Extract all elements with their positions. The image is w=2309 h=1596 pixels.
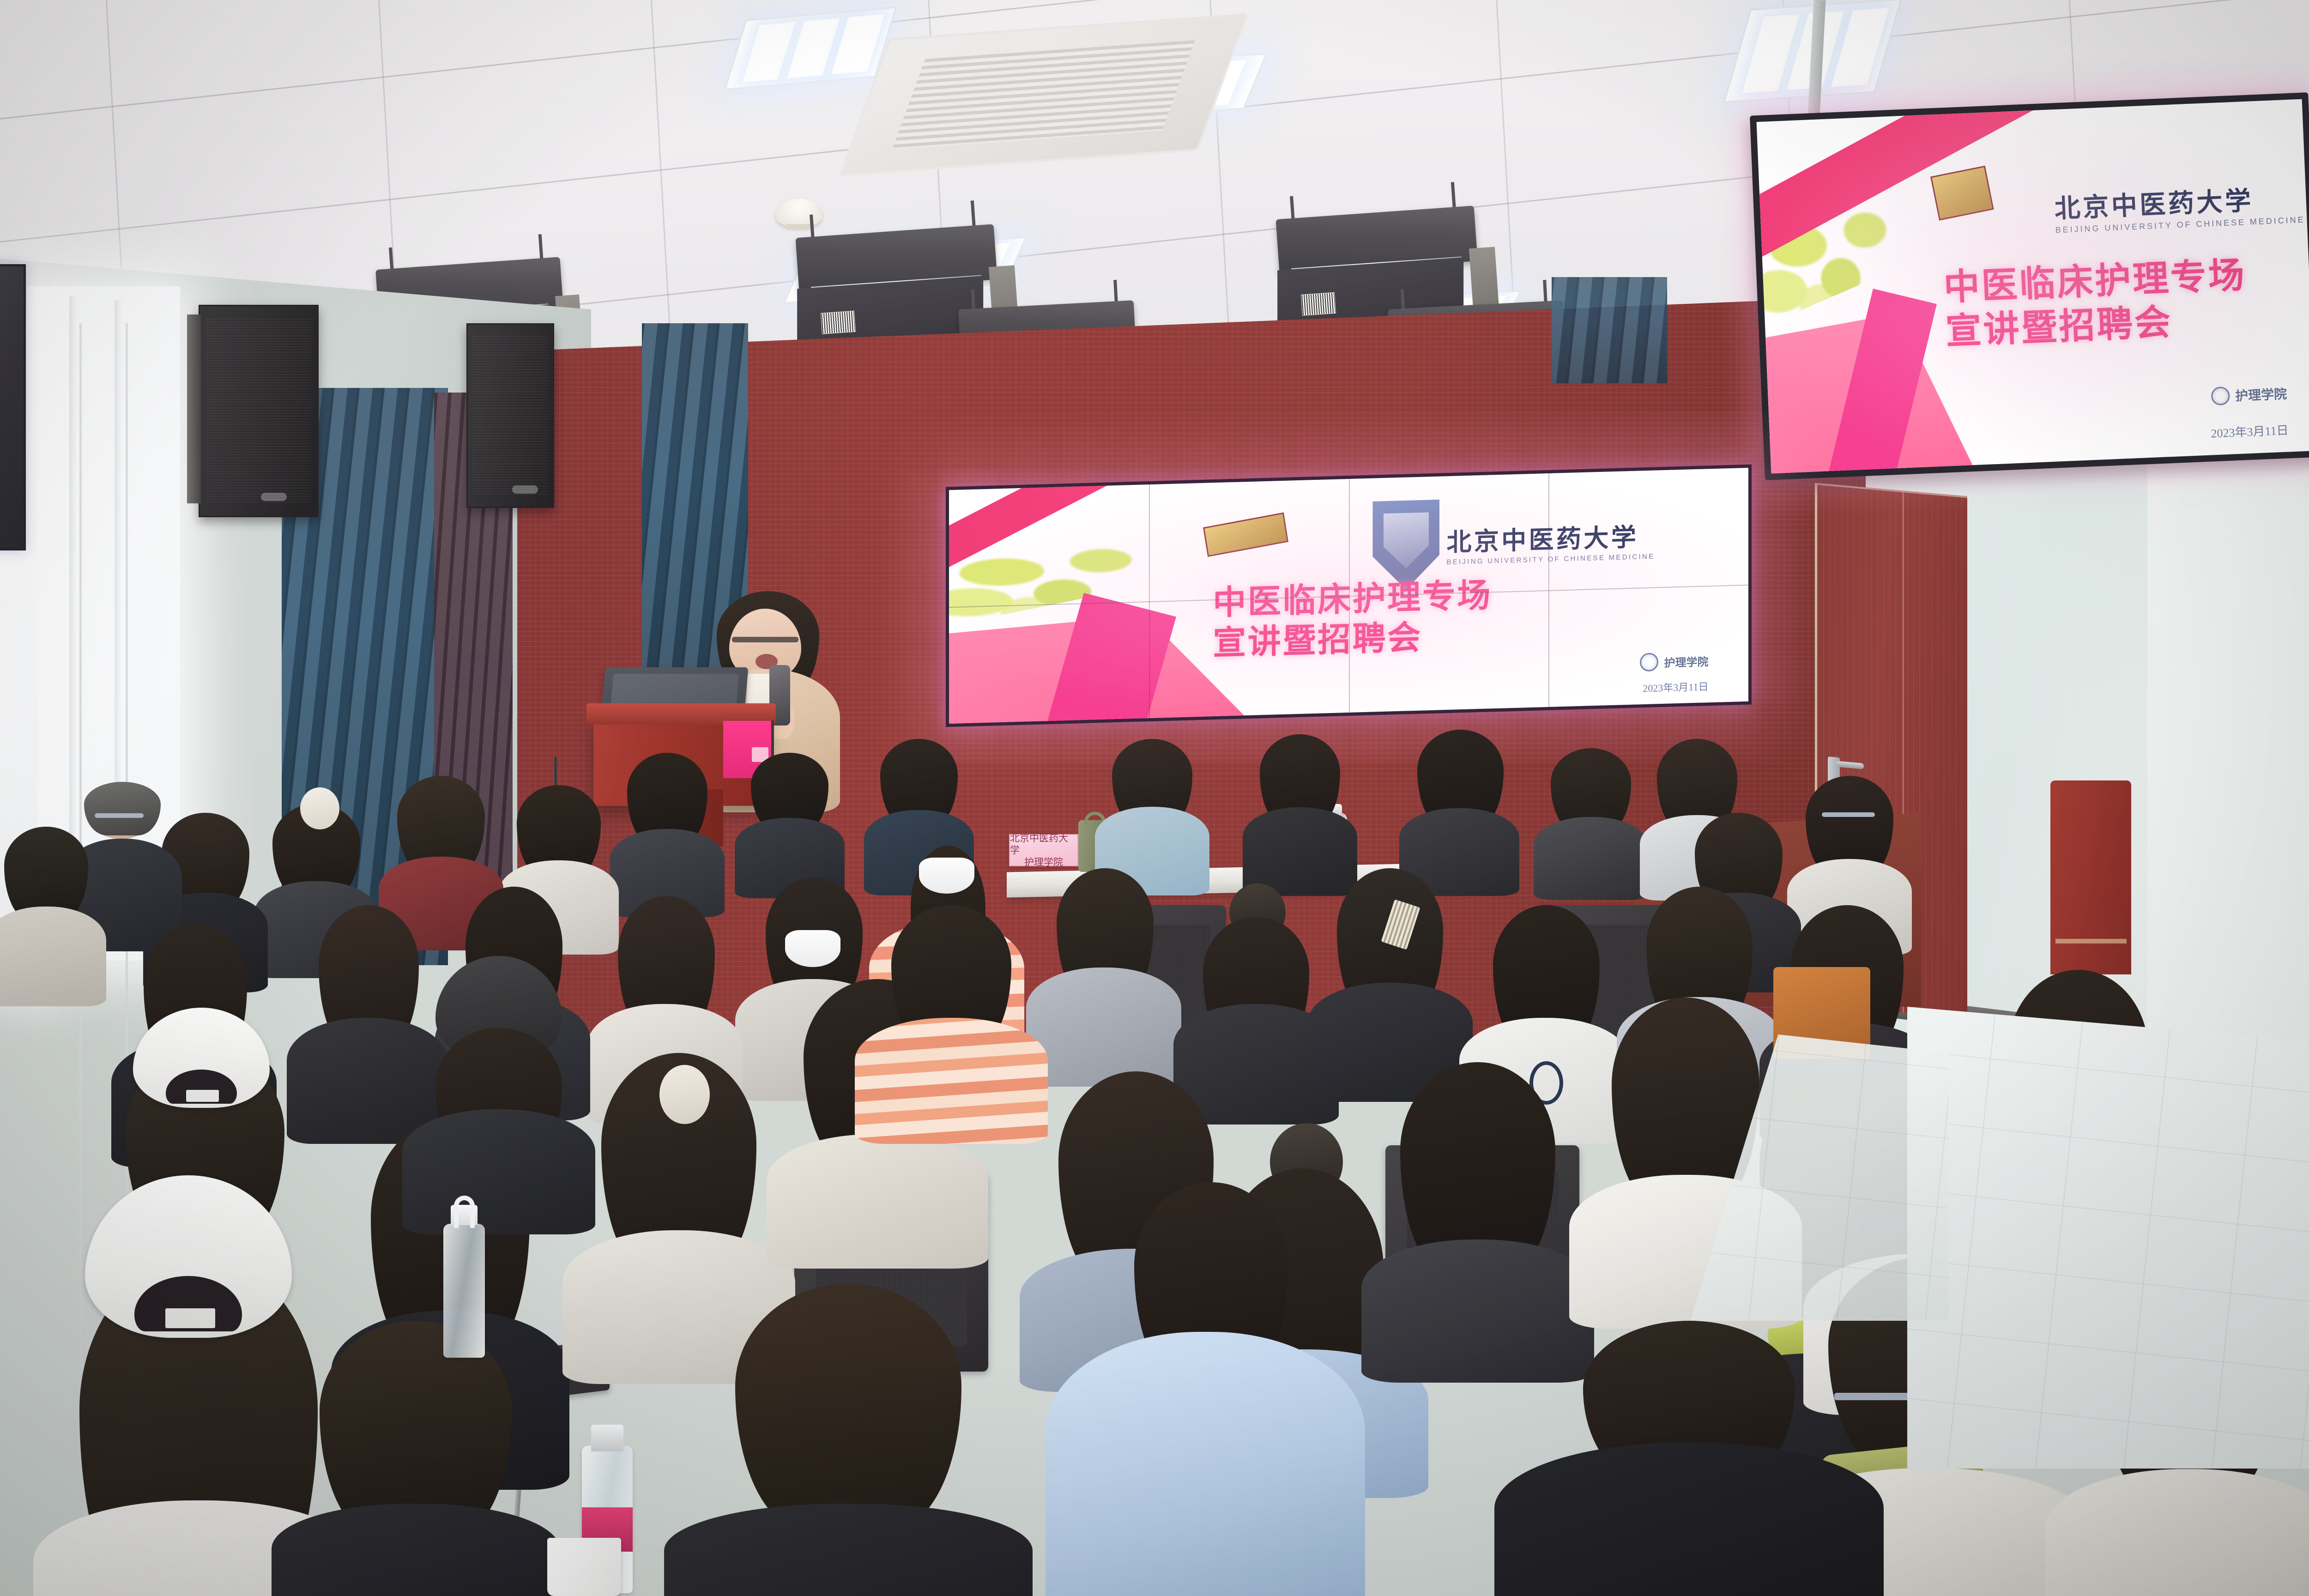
main-slide: 北京中医药大学 BEIJING UNIVERSITY OF CHINESE ME… [949,468,1748,724]
presenter-glasses-icon [732,637,798,642]
loudspeaker-icon [466,323,554,508]
audience-member-hat [416,961,582,1201]
university-logo-row: 北京中医药大学 BEIJING UNIVERSITY OF CHINESE ME… [2049,170,2291,243]
audience-member [1381,1062,1575,1348]
university-logo-row: 北京中医药大学 BEIJING UNIVERSITY OF CHINESE ME… [1372,515,1724,567]
university-name-zh: 北京中医药大学 [1446,516,1655,558]
side-lectern [2050,780,2131,974]
department-mark: 护理学院 [1640,651,1708,671]
department-seal-icon [2211,387,2230,406]
tv-slide-date: 2023年3月11日 [2211,421,2289,441]
bottle-loop-handle [454,1196,475,1228]
audience-member-front [683,1284,1007,1596]
tv-slide: 北京中医药大学 BEIJING UNIVERSITY OF CHINESE ME… [1757,99,2309,474]
audience-member [0,827,102,993]
panel-member [1099,739,1205,887]
department-seal-icon [1640,653,1658,671]
audience-member [614,753,720,905]
main-slide-title: 中医临床护理专场 宣讲暨招聘会 [1213,568,1740,665]
white-baseball-cap [85,1175,292,1338]
tv-slide-title: 中医临床护理专场 宣讲暨招聘会 [1943,250,2306,353]
name-card: 北京中医药大学 护理学院 [1009,834,1078,866]
audience-member-striped-mid [868,905,1034,1122]
department-mark: 护理学院 [2211,384,2287,406]
audience-member [296,1321,536,1596]
floor [1907,1007,2309,1469]
audience-member [1034,868,1173,1067]
stage-curtain-blue-right [1552,277,1667,383]
panel-member [1247,734,1353,887]
audience-member-hoodie-blue [1058,1182,1353,1596]
panel-member [739,753,840,891]
main-video-wall: 北京中医药大学 BEIJING UNIVERSITY OF CHINESE ME… [946,465,1752,727]
air-conditioner-diffuser [839,13,1249,176]
wall-mounted-tv: 北京中医药大学 BEIJING UNIVERSITY OF CHINESE ME… [1750,92,2309,480]
lecture-hall-photo: 北京中医药大学 BEIJING UNIVERSITY OF CHINESE ME… [0,0,2309,1596]
corner-monitor [0,264,26,550]
main-slide-date: 2023年3月11日 [1643,678,1708,695]
panel-member [1538,748,1644,891]
audience-member-darkcoat [1515,1321,1856,1596]
audience-member-clip [1316,868,1464,1081]
panel-member [1404,730,1515,887]
audience-member-orange-bag [1746,905,1884,1053]
water-bottle-on-tablet[interactable] [443,1224,485,1358]
loudspeaker-icon [199,305,319,517]
paper-cup[interactable] [547,1538,621,1596]
